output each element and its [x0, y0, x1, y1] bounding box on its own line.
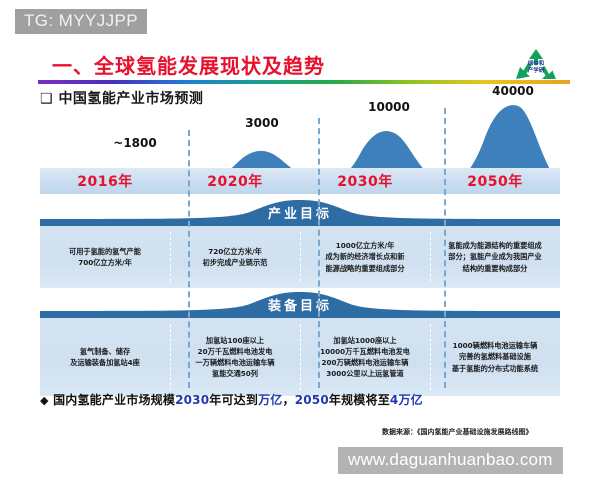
summary-highlight-4: 4万亿	[390, 393, 423, 407]
summary-part-2: 年可达到	[209, 393, 258, 407]
summary-bullet-icon: ◆	[40, 394, 49, 407]
summary-highlight-2: 万亿	[258, 393, 282, 407]
svg-text:产学研: 产学研	[528, 66, 545, 74]
svg-text:绿中和: 绿中和	[528, 59, 545, 67]
summary-part-1: 国内氢能产业市场规模	[53, 393, 175, 407]
recycle-logo: 绿中和 产学研	[508, 45, 564, 89]
equipment-goal-banner-label: 装备目标	[40, 295, 560, 314]
equipment-goal-banner: 装备目标	[40, 292, 560, 316]
year-axis-bar: 2016年 2020年 2030年 2050年	[40, 168, 560, 194]
year-label-2016: 2016年	[40, 168, 170, 194]
chart-value-label-2: 10000	[368, 100, 410, 114]
chart-value-label-1: 3000	[245, 116, 278, 130]
column-separator-1	[188, 130, 190, 388]
equipment-goal-section: 装备目标 氢气制备、储存 及运输装备加氢站4座 加氢站100座以上 20万千瓦燃…	[40, 292, 560, 396]
summary-part-3: ，	[283, 393, 295, 407]
industry-goal-section: 产业目标 可用于氢能的氢气产能 700亿立方米/年 720亿立方米/年 初步完成…	[40, 200, 560, 288]
summary-highlight-1: 2030	[175, 393, 209, 407]
slide-root: TG: MYYJJPP 一、全球氢能发展现状及趋势 ❑ 中国氢能产业市场预测 绿…	[0, 0, 600, 480]
column-separator-3	[444, 108, 446, 388]
chart-value-label-0: ~1800	[113, 136, 156, 150]
summary-line: ◆ 国内氢能产业市场规模2030年可达到万亿，2050年规模将至4万亿	[40, 391, 423, 408]
year-label-2050: 2050年	[430, 168, 560, 194]
equipment-goal-cell-2016: 氢气制备、储存 及运输装备加氢站4座	[40, 318, 170, 396]
industry-goal-cell-2050: 氢能成为能源结构的重要组成 部分；氢能产业成为我国产业 结构的重要构成部分	[430, 226, 560, 288]
equipment-goal-cell-2050: 1000辆燃料电池运输车辆 完善的氢燃料基础设施 基于氢能的分布式功能系统	[430, 318, 560, 396]
industry-goal-cell-2016: 可用于氢能的氢气产能 700亿立方米/年	[40, 226, 170, 288]
bottom-watermark: www.daguanhuanbao.com	[338, 447, 563, 474]
industry-goal-cells: 可用于氢能的氢气产能 700亿立方米/年 720亿立方米/年 初步完成产业链示范…	[40, 224, 560, 288]
column-separator-2	[318, 118, 320, 388]
industry-goal-banner: 产业目标	[40, 200, 560, 224]
equipment-goal-cells: 氢气制备、储存 及运输装备加氢站4座 加氢站100座以上 20万千瓦燃料电池发电…	[40, 316, 560, 396]
summary-highlight-3: 2050	[295, 393, 329, 407]
summary-part-4: 年规模将至	[329, 393, 390, 407]
page-title: 一、全球氢能发展现状及趋势	[52, 50, 325, 79]
chart-value-label-3: 40000	[492, 84, 534, 98]
top-watermark: TG: MYYJJPP	[15, 9, 147, 34]
industry-goal-banner-label: 产业目标	[40, 203, 560, 222]
source-note: 数据来源：《国内氢能产业基础设施发展路线图》	[382, 427, 533, 437]
rainbow-divider	[38, 80, 570, 84]
recycle-logo-icon: 绿中和 产学研	[508, 45, 564, 89]
